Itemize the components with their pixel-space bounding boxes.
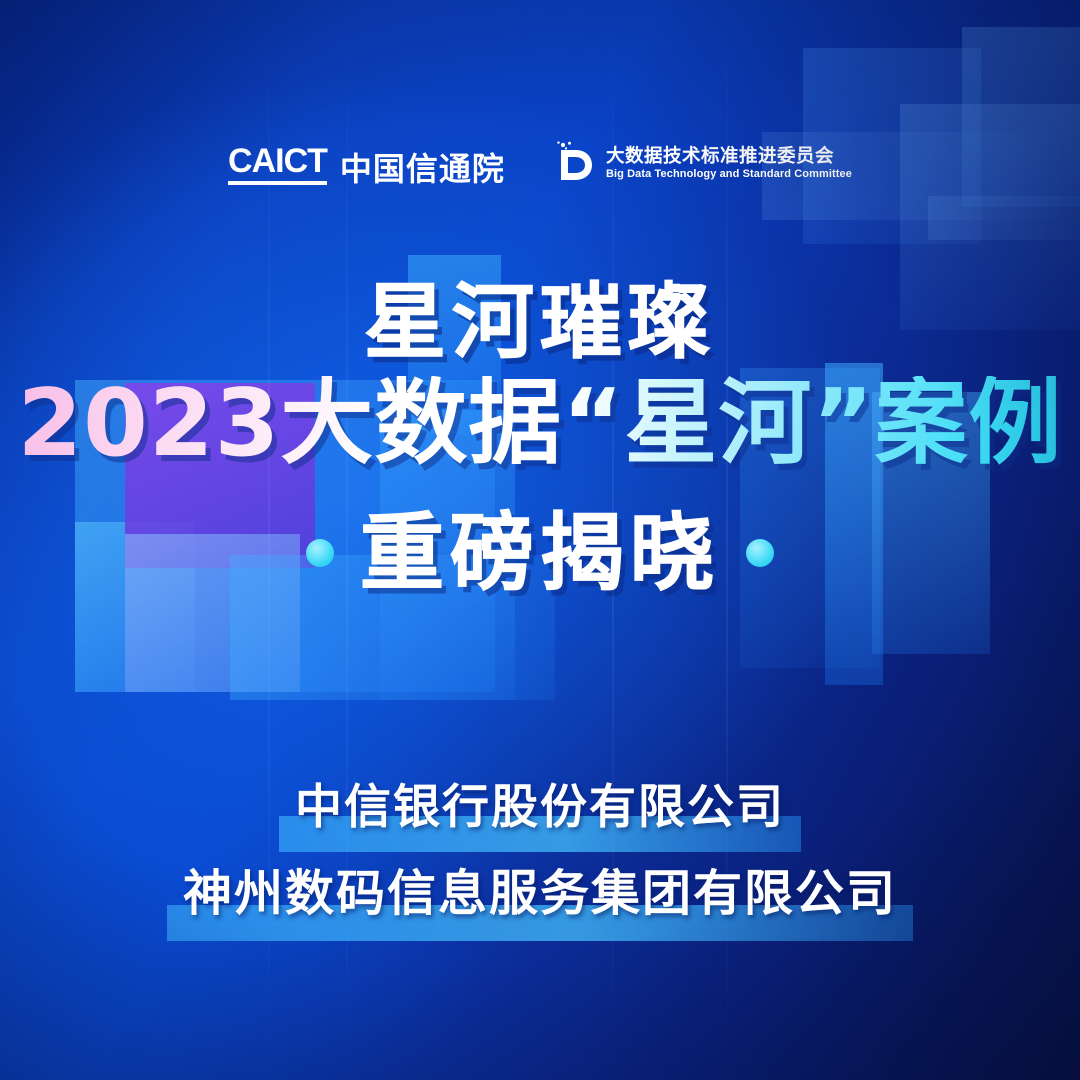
headline-line-2: 2023大数据“星河”案例 bbox=[0, 376, 1080, 471]
headline-line-3: 重磅揭晓 bbox=[360, 511, 720, 595]
winner-item-2: 神州数码信息服务集团有限公司 bbox=[167, 863, 913, 931]
winner-item-1: 中信银行股份有限公司 bbox=[279, 778, 801, 843]
big-data-committee-logo: 大数据技术标准推进委员会 Big Data Technology and Sta… bbox=[551, 140, 852, 188]
winners-list: 中信银行股份有限公司 神州数码信息服务集团有限公司 bbox=[0, 778, 1080, 931]
headline-group: 星河璀璨 2023大数据“星河”案例 重磅揭晓 bbox=[0, 282, 1080, 595]
committee-chinese-name: 大数据技术标准推进委员会 bbox=[606, 148, 852, 167]
cyan-dot-icon-right bbox=[746, 539, 774, 567]
committee-english-name: Big Data Technology and Standard Committ… bbox=[606, 169, 852, 180]
caict-logo: CAICT 中国信通院 bbox=[228, 144, 505, 185]
winner-name: 中信银行股份有限公司 bbox=[295, 780, 785, 835]
cyan-dot-icon-left bbox=[306, 539, 334, 567]
header-logos: CAICT 中国信通院 大数据技术标准推进委员会 Big Data Techno… bbox=[0, 140, 1080, 188]
caict-chinese-name: 中国信通院 bbox=[340, 153, 505, 185]
headline-line-3-row: 重磅揭晓 bbox=[0, 511, 1080, 595]
bg-block-top-right-5 bbox=[928, 196, 1080, 240]
headline-line-1: 星河璀璨 bbox=[0, 282, 1080, 364]
winner-name: 神州数码信息服务集团有限公司 bbox=[183, 865, 897, 922]
big-data-d-logo-icon bbox=[551, 140, 595, 188]
caict-wordmark-icon: CAICT bbox=[228, 144, 327, 185]
poster-canvas: CAICT 中国信通院 大数据技术标准推进委员会 Big Data Techno… bbox=[0, 0, 1080, 1080]
big-data-committee-text: 大数据技术标准推进委员会 Big Data Technology and Sta… bbox=[606, 148, 852, 180]
